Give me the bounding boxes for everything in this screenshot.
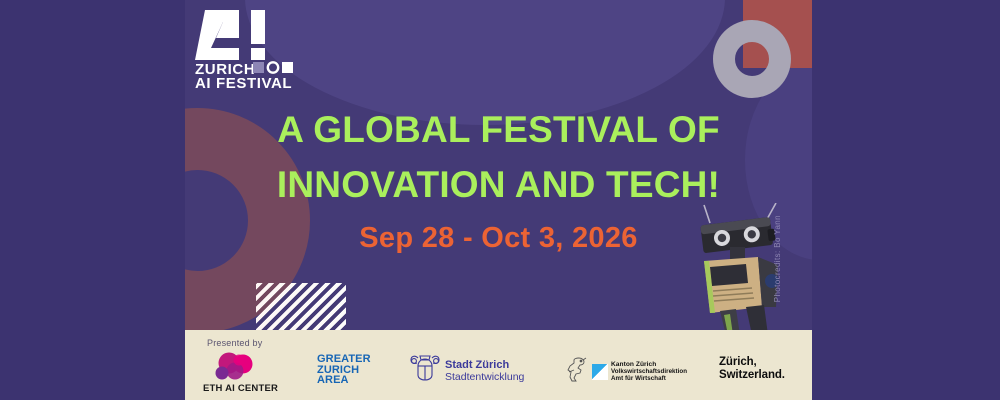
sponsor-logo-zurich-switzerland[interactable]: Zürich, Switzerland.: [719, 356, 785, 382]
svg-text:AI FESTIVAL: AI FESTIVAL: [195, 75, 292, 90]
festival-poster: ZURICH AI FESTIVAL A GLOBAL FESTIVAL OF …: [0, 0, 1000, 400]
sponsor-logo-kanton-zuerich[interactable]: Kanton Zürich Volkswirtschaftsdirektion …: [565, 356, 687, 387]
kanton-zuerich-flag-icon: [592, 364, 608, 380]
page-title: A GLOBAL FESTIVAL OF INNOVATION AND TECH…: [185, 102, 812, 212]
poster-artwork: ZURICH AI FESTIVAL A GLOBAL FESTIVAL OF …: [185, 0, 812, 400]
letterbox-left: [0, 0, 185, 400]
zurich-switzerland-line-2: Switzerland.: [719, 369, 785, 382]
stadt-zuerich-crest-icon: [410, 354, 440, 387]
kanton-line-2: Volkswirtschaftsdirektion: [611, 368, 687, 375]
zurich-switzerland-line-1: Zürich,: [719, 356, 785, 369]
gray-ring-shape: [713, 20, 791, 98]
presented-by-label: Presented by: [207, 338, 262, 348]
photo-credit: Photocredits: Bo Yann: [773, 215, 782, 302]
kanton-line-3: Amt für Wirtschaft: [611, 375, 687, 382]
sponsor-bar: Presented by ETH AI CENTER GREA: [185, 330, 812, 400]
sponsor-logo-greater-zurich-area[interactable]: GREATER ZURICH AREA: [317, 354, 371, 386]
stadt-zuerich-line-1: Stadt Zürich: [445, 359, 524, 371]
sponsor-logo-stadt-zuerich[interactable]: Stadt Zürich Stadtentwicklung: [410, 354, 524, 387]
kanton-line-1: Kanton Zürich: [611, 361, 687, 368]
robot-photo: [680, 203, 800, 335]
eth-ai-center-mark-icon: [209, 352, 263, 382]
eth-ai-center-label: ETH AI CENTER: [203, 383, 278, 394]
letterbox-right: [812, 0, 1000, 400]
stadt-zuerich-line-2: Stadtentwicklung: [445, 371, 524, 383]
zurich-ai-festival-logo[interactable]: ZURICH AI FESTIVAL: [193, 8, 323, 90]
headline-line-1: A GLOBAL FESTIVAL OF: [185, 102, 812, 157]
sponsor-logo-eth-ai-center[interactable]: ETH AI CENTER: [203, 352, 278, 394]
diagonal-stripes-decoration: [256, 283, 346, 330]
kanton-zuerich-lion-icon: [565, 356, 589, 387]
gza-line-1: GREATER: [317, 354, 371, 365]
gza-line-3: AREA: [317, 375, 371, 386]
